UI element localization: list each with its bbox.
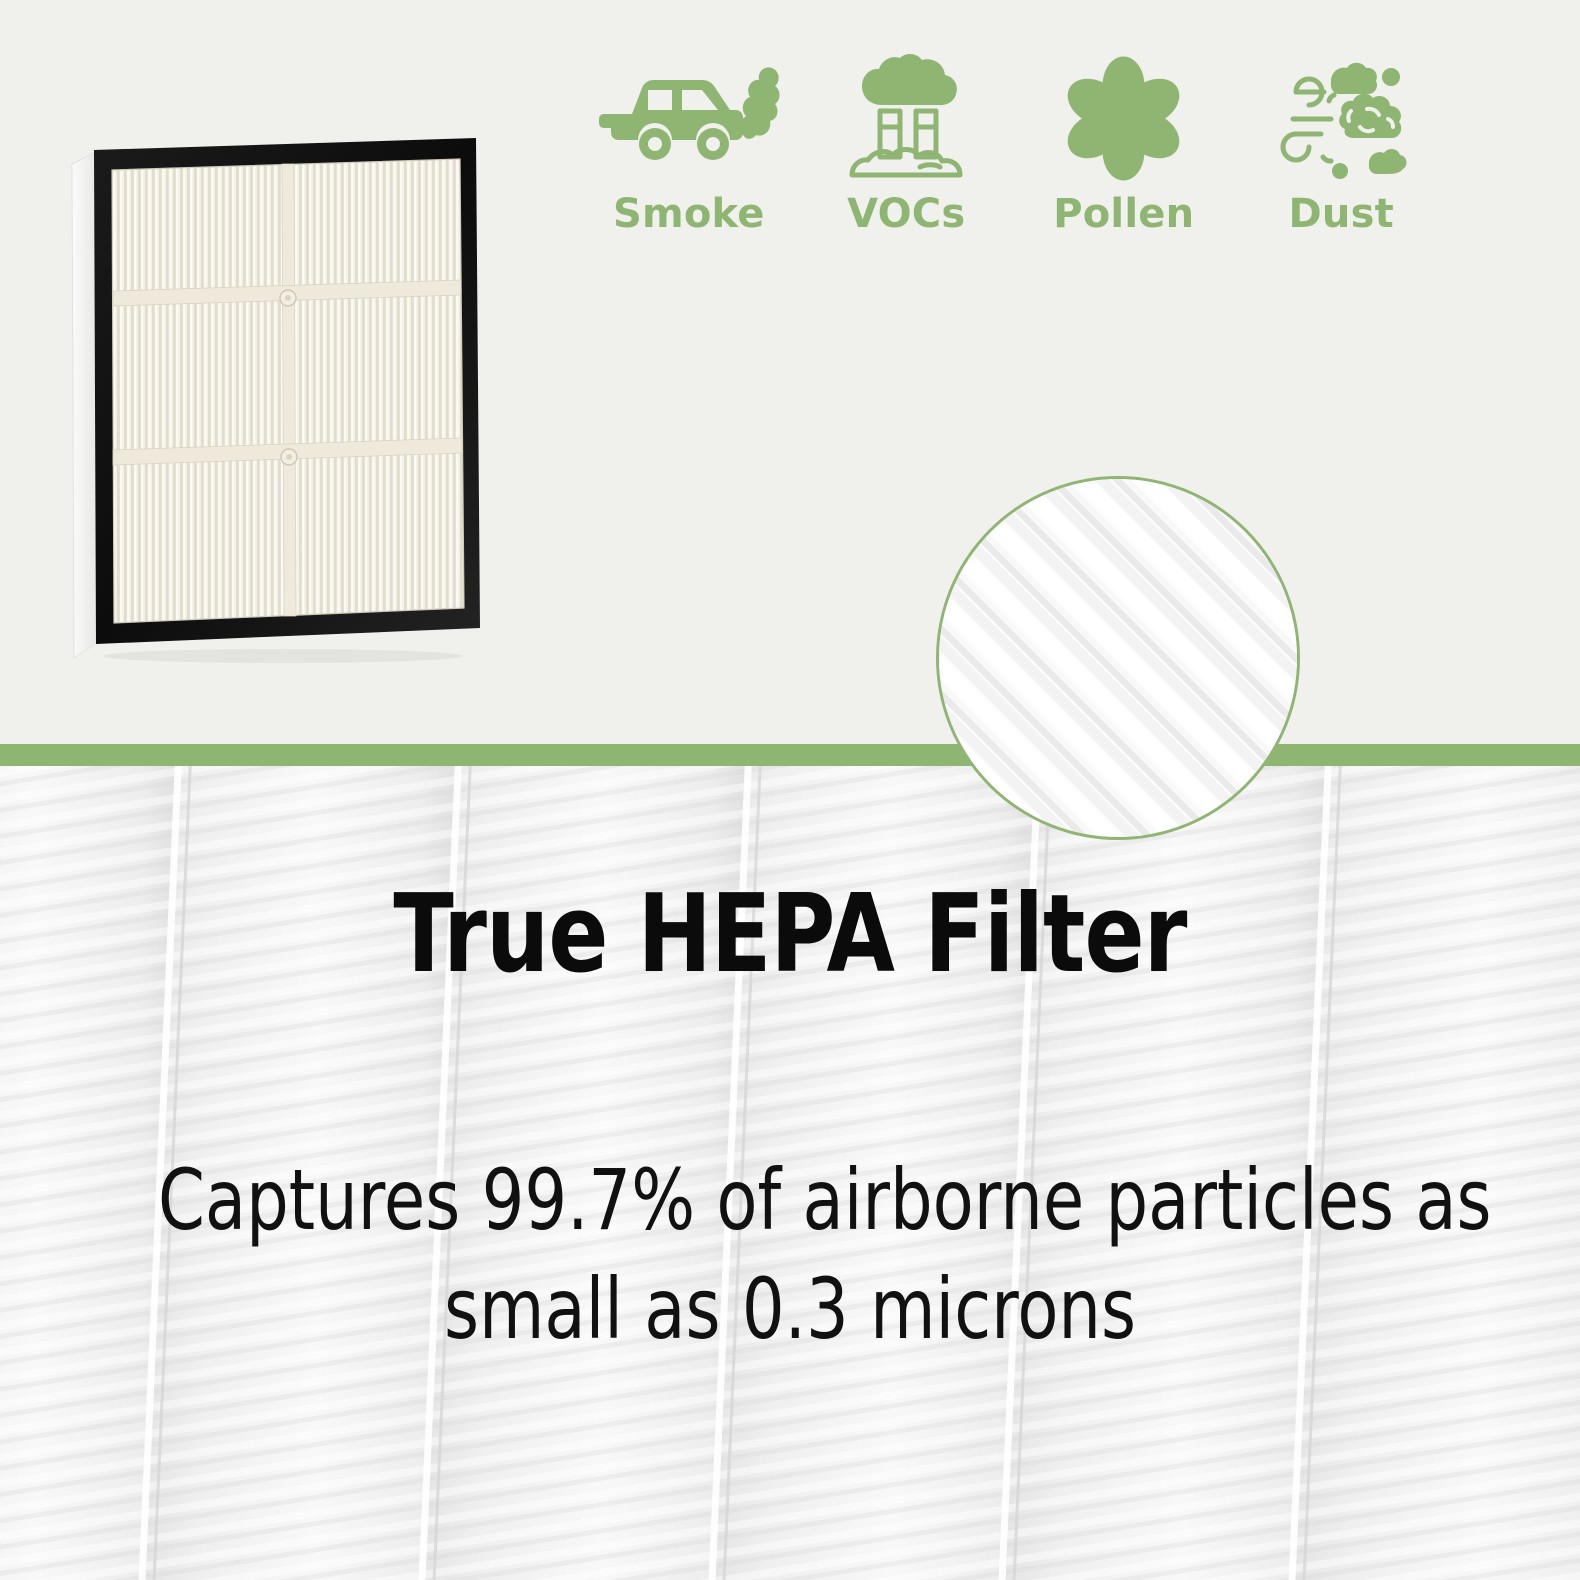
pollutant-item-dust: Dust xyxy=(1233,48,1451,273)
green-divider-bar xyxy=(0,744,1580,766)
pleat-closeup-magnifier xyxy=(936,476,1300,840)
pollutant-label-vocs: VOCs xyxy=(847,194,965,234)
infographic-canvas: Smoke xyxy=(0,0,1580,1580)
description-line-1: Captures 99.7% of airborne particles as xyxy=(158,1146,1422,1255)
flower-pollen-icon xyxy=(1061,48,1186,188)
description-text: Captures 99.7% of airborne particles as … xyxy=(158,1146,1422,1364)
top-section: Smoke xyxy=(0,0,1580,745)
description-line-2: small as 0.3 microns xyxy=(158,1255,1422,1364)
pollutant-icon-row: Smoke xyxy=(580,48,1450,273)
pollutant-item-vocs: VOCs xyxy=(798,48,1016,273)
pollutant-label-smoke: Smoke xyxy=(613,194,765,234)
factory-smokestack-icon xyxy=(836,48,976,188)
hepa-filter-product-image xyxy=(68,128,498,673)
pollutant-item-pollen: Pollen xyxy=(1015,48,1233,273)
page-title: True HEPA Filter xyxy=(142,878,1438,991)
pollutant-label-dust: Dust xyxy=(1289,194,1394,234)
pollutant-label-pollen: Pollen xyxy=(1053,194,1194,234)
car-exhaust-smoke-icon xyxy=(594,48,784,188)
wind-dust-cloud-icon xyxy=(1269,48,1414,188)
pollutant-item-smoke: Smoke xyxy=(580,48,798,273)
